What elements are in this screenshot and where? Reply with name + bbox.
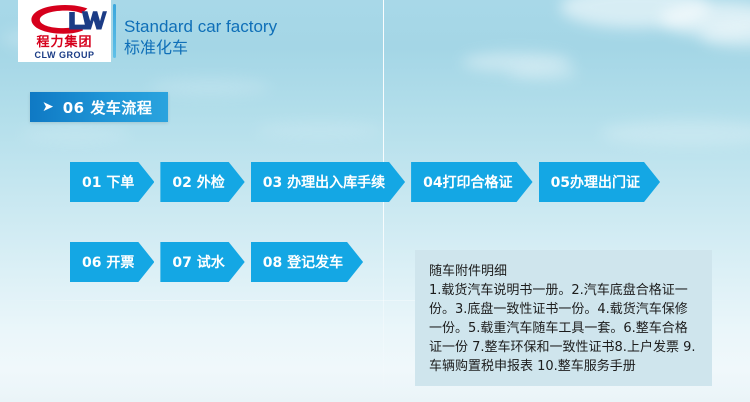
flow-step-05[interactable]: 05办理出门证: [539, 162, 660, 202]
clw-group-logo-icon: [23, 2, 107, 36]
notes-title: 随车附件明细: [429, 262, 698, 281]
logo-chinese-name: 程力集团: [36, 36, 92, 49]
cloud-decoration: [508, 66, 578, 80]
flow-step-label: 07 试水: [172, 252, 224, 272]
cloud-decoration: [600, 120, 750, 146]
header-title-en: Standard car factory: [124, 16, 277, 37]
flow-step-label: 05办理出门证: [551, 172, 640, 192]
flow-step-label: 04打印合格证: [423, 172, 512, 192]
flow-step-02[interactable]: 02 外检: [160, 162, 244, 202]
flow-step-03[interactable]: 03 办理出入库手续: [251, 162, 405, 202]
slide-canvas: 程力集团 CLW GROUP Standard car factory 标准化车…: [0, 0, 750, 402]
flow-step-label: 08 登记发车: [263, 252, 343, 272]
cloud-decoration: [20, 126, 130, 142]
flow-step-01[interactable]: 01 下单: [70, 162, 154, 202]
slide-header: 程力集团 CLW GROUP Standard car factory 标准化车: [0, 0, 750, 68]
cloud-decoration: [255, 122, 385, 138]
section-title-label: 06 发车流程: [63, 97, 153, 118]
flow-step-label: 03 办理出入库手续: [263, 172, 385, 192]
header-accent-rule: [113, 4, 116, 58]
section-title-badge: ➤ 06 发车流程: [30, 92, 168, 122]
flow-step-label: 01 下单: [82, 172, 134, 192]
flow-row-2: 06 开票 07 试水 08 登记发车: [70, 242, 363, 282]
flow-step-label: 06 开票: [82, 252, 134, 272]
company-logo: 程力集团 CLW GROUP: [18, 0, 111, 62]
chevron-right-icon: ➤: [42, 100, 54, 114]
header-title-group: Standard car factory 标准化车: [124, 16, 277, 58]
flow-step-08[interactable]: 08 登记发车: [251, 242, 363, 282]
flow-step-label: 02 外检: [172, 172, 224, 192]
attachment-notes-panel: 随车附件明细 1.载货汽车说明书一册。2.汽车底盘合格证一份。3.底盘一致性证书…: [415, 250, 712, 386]
flow-step-04[interactable]: 04打印合格证: [411, 162, 532, 202]
flow-step-06[interactable]: 06 开票: [70, 242, 154, 282]
notes-body: 1.载货汽车说明书一册。2.汽车底盘合格证一份。3.底盘一致性证书一份。4.载货…: [429, 281, 698, 376]
flow-step-07[interactable]: 07 试水: [160, 242, 244, 282]
logo-english-name: CLW GROUP: [35, 50, 95, 60]
header-title-cn: 标准化车: [124, 38, 277, 58]
flow-row-1: 01 下单 02 外检 03 办理出入库手续 04打印合格证 05办理出门证: [70, 162, 660, 202]
